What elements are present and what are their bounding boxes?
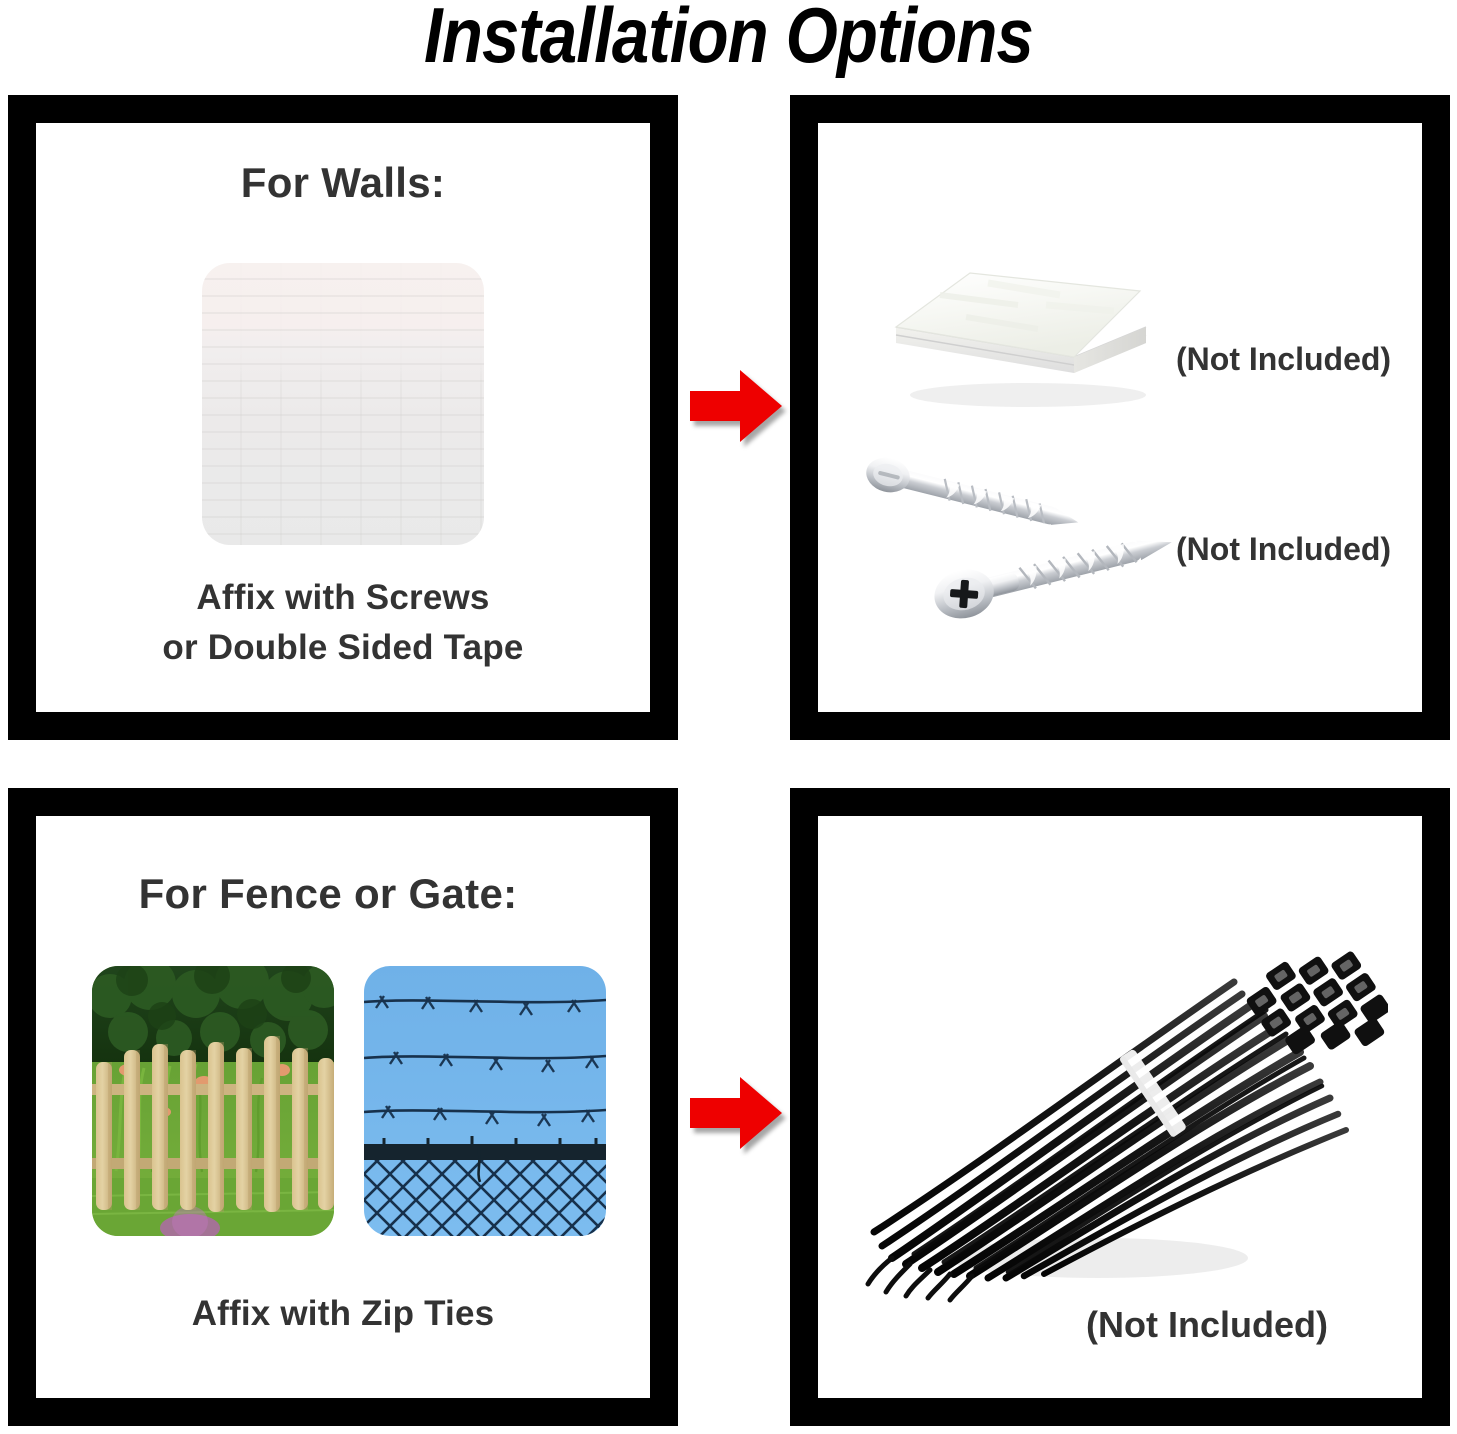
panel-wall-hardware: (Not Included) (790, 95, 1450, 740)
heading-for-walls: For Walls: (36, 159, 650, 207)
wooden-picket-fence-photo (92, 966, 334, 1236)
screws-not-included-label: (Not Included) (1176, 531, 1391, 568)
heading-for-fence-or-gate: For Fence or Gate: (36, 870, 650, 918)
panel-for-walls: For Walls: Affix with Screws or Double S… (8, 95, 678, 740)
caption-for-walls-line1: Affix with Screws (36, 573, 650, 624)
caption-for-fence-line1: Affix with Zip Ties (36, 1289, 650, 1340)
page-title: Installation Options (102, 0, 1355, 76)
caption-for-walls: Affix with Screws or Double Sided Tape (36, 573, 650, 675)
caption-for-fence: Affix with Zip Ties (36, 1289, 650, 1340)
infographic-root: Installation Options For Walls: Affix wi… (0, 0, 1457, 1434)
panel-for-fence-body: For Fence or Gate: (36, 816, 650, 1398)
panel-for-walls-body: For Walls: Affix with Screws or Double S… (36, 123, 650, 712)
ziptie-not-included-label: (Not Included) (1086, 1304, 1328, 1346)
chain-link-barbed-wire-fence-photo (364, 966, 606, 1236)
tape-not-included-label: (Not Included) (1176, 341, 1391, 378)
black-zip-ties-bundle-image (848, 886, 1388, 1306)
wood-screws-pair-image (848, 453, 1198, 643)
panel-fence-hardware: (Not Included) (790, 788, 1450, 1426)
panel-fence-hardware-body: (Not Included) (818, 816, 1422, 1398)
double-sided-tape-stack-image (878, 243, 1168, 418)
caption-for-walls-line2: or Double Sided Tape (36, 623, 650, 674)
right-arrow-icon (690, 368, 782, 444)
panel-wall-hardware-body: (Not Included) (818, 123, 1422, 712)
right-arrow-icon (690, 1075, 782, 1151)
panel-for-fence-or-gate: For Fence or Gate: (8, 788, 678, 1426)
white-brick-wall-swatch-image (202, 263, 484, 545)
